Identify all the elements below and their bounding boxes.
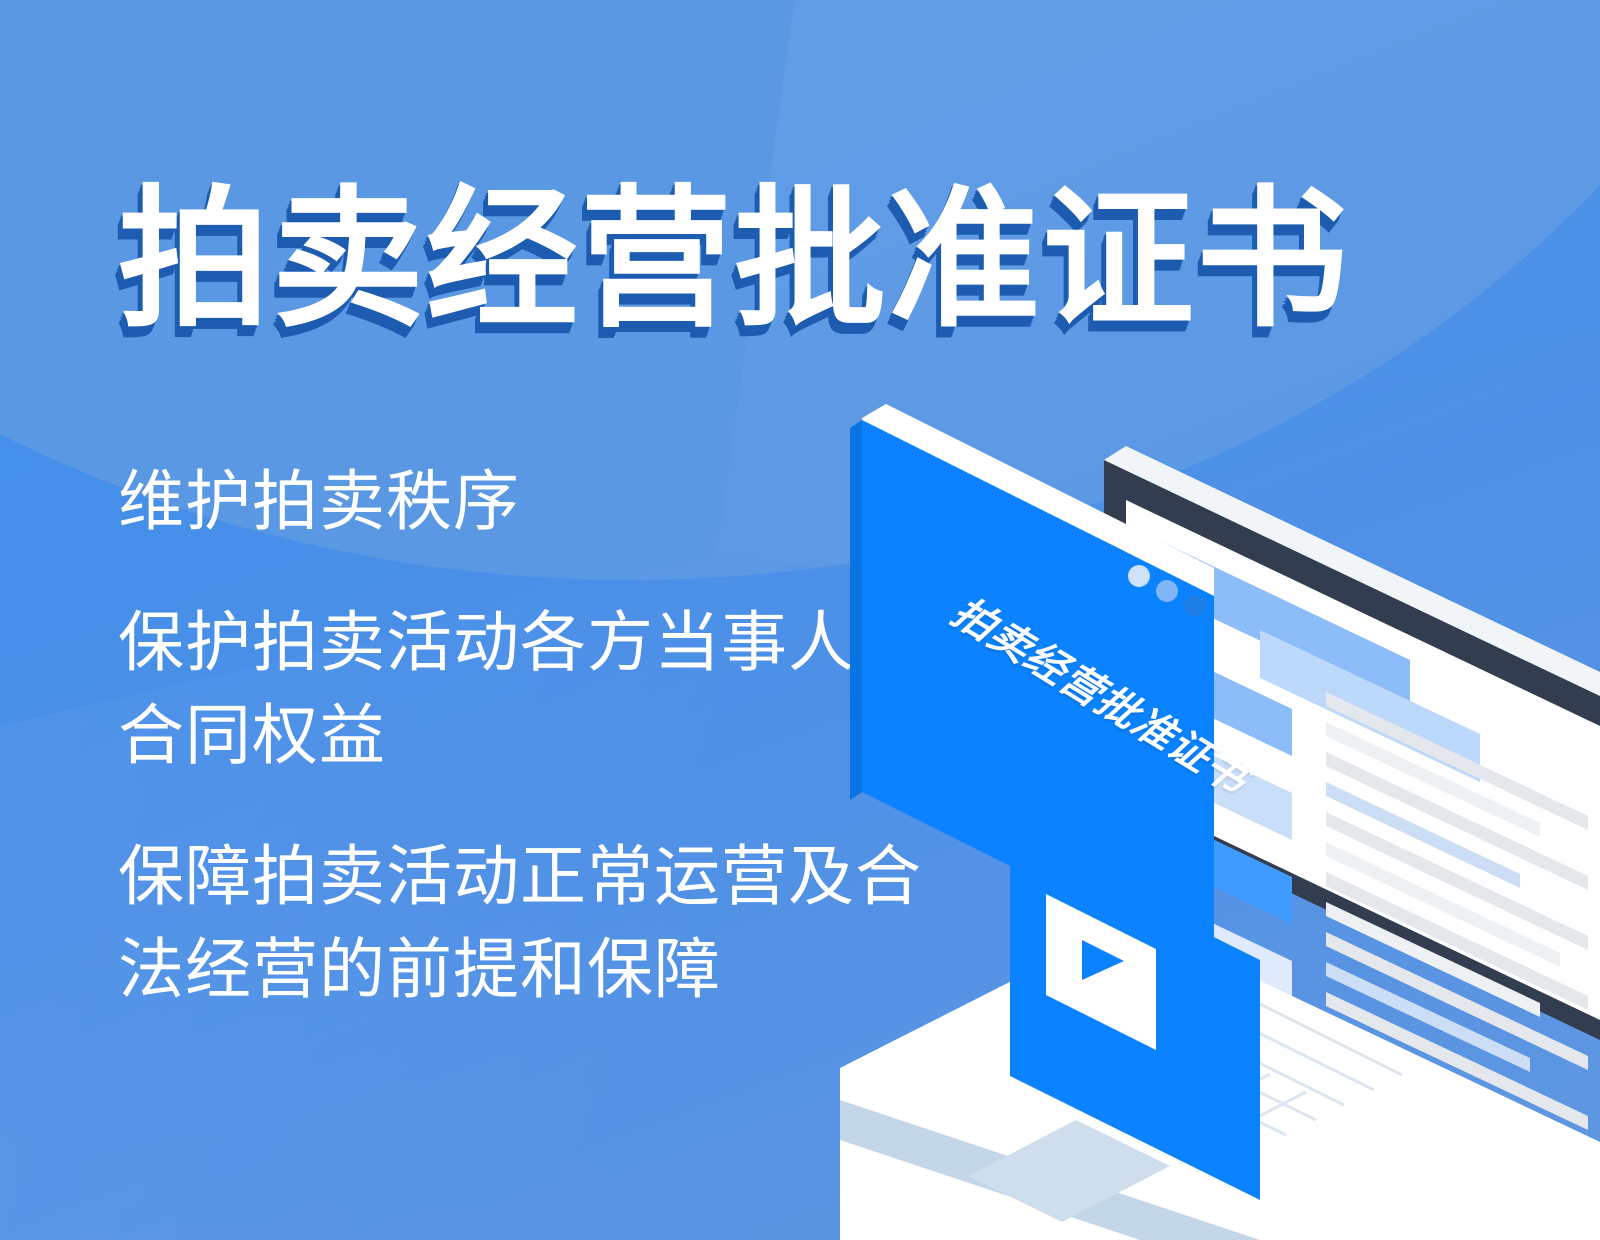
feature-list: 维护拍卖秩序 保护拍卖活动各方当事人的合同权益 保障拍卖活动正常运营及合法经营的… (118, 455, 948, 1016)
feature-item-3: 保障拍卖活动正常运营及合法经营的前提和保障 (118, 830, 948, 1016)
dot-2-icon (1156, 580, 1178, 602)
isometric-laptop-illustration (840, 400, 1600, 1240)
poster-canvas: 拍卖经营批准证书 维护拍卖秩序 保护拍卖活动各方当事人的合同权益 保障拍卖活动正… (0, 0, 1600, 1240)
feature-item-2: 保护拍卖活动各方当事人的合同权益 (118, 596, 948, 782)
feature-item-1: 维护拍卖秩序 (118, 455, 948, 548)
dot-1-icon (1128, 565, 1150, 587)
page-title: 拍卖经营批准证书 (118, 184, 1350, 336)
dot-3-icon (1184, 595, 1206, 617)
